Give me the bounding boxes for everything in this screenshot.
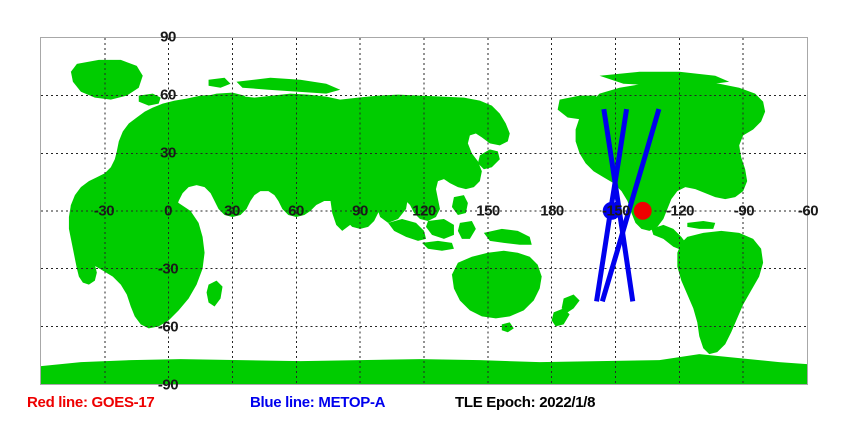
legend-tle-epoch: TLE Epoch: 2022/1/8 xyxy=(455,394,595,411)
indochina xyxy=(376,185,408,223)
map-legend: Red line: GOES-17 Blue line: METOP-A TLE… xyxy=(0,394,850,420)
new-guinea xyxy=(484,229,532,245)
south-america xyxy=(677,231,763,354)
satellite-marker-metop-a xyxy=(603,202,621,220)
greenland xyxy=(71,60,143,100)
java xyxy=(422,241,454,251)
japan xyxy=(478,149,500,169)
tasmania xyxy=(502,322,514,332)
world-map-svg xyxy=(41,38,807,384)
borneo xyxy=(426,219,454,239)
antarctica xyxy=(41,354,807,384)
canadian-arctic xyxy=(600,72,730,86)
philippines xyxy=(452,195,468,215)
map-plot-area xyxy=(40,37,808,385)
sumatra xyxy=(388,219,426,241)
satellite-marker-goes-17 xyxy=(634,202,652,220)
madagascar xyxy=(207,281,223,307)
legend-red-line-goes17: Red line: GOES-17 xyxy=(27,394,154,411)
legend-blue-line-metopa: Blue line: METOP-A xyxy=(250,394,385,411)
arctic-islands xyxy=(236,78,340,94)
svalbard xyxy=(209,78,231,88)
africa-landmass xyxy=(71,193,205,328)
sulawesi xyxy=(458,221,476,239)
australia xyxy=(452,251,542,319)
caribbean-islands xyxy=(687,221,715,229)
satellite-ground-track-map: -300306090120150180-150-120-90-60906030-… xyxy=(0,0,850,425)
